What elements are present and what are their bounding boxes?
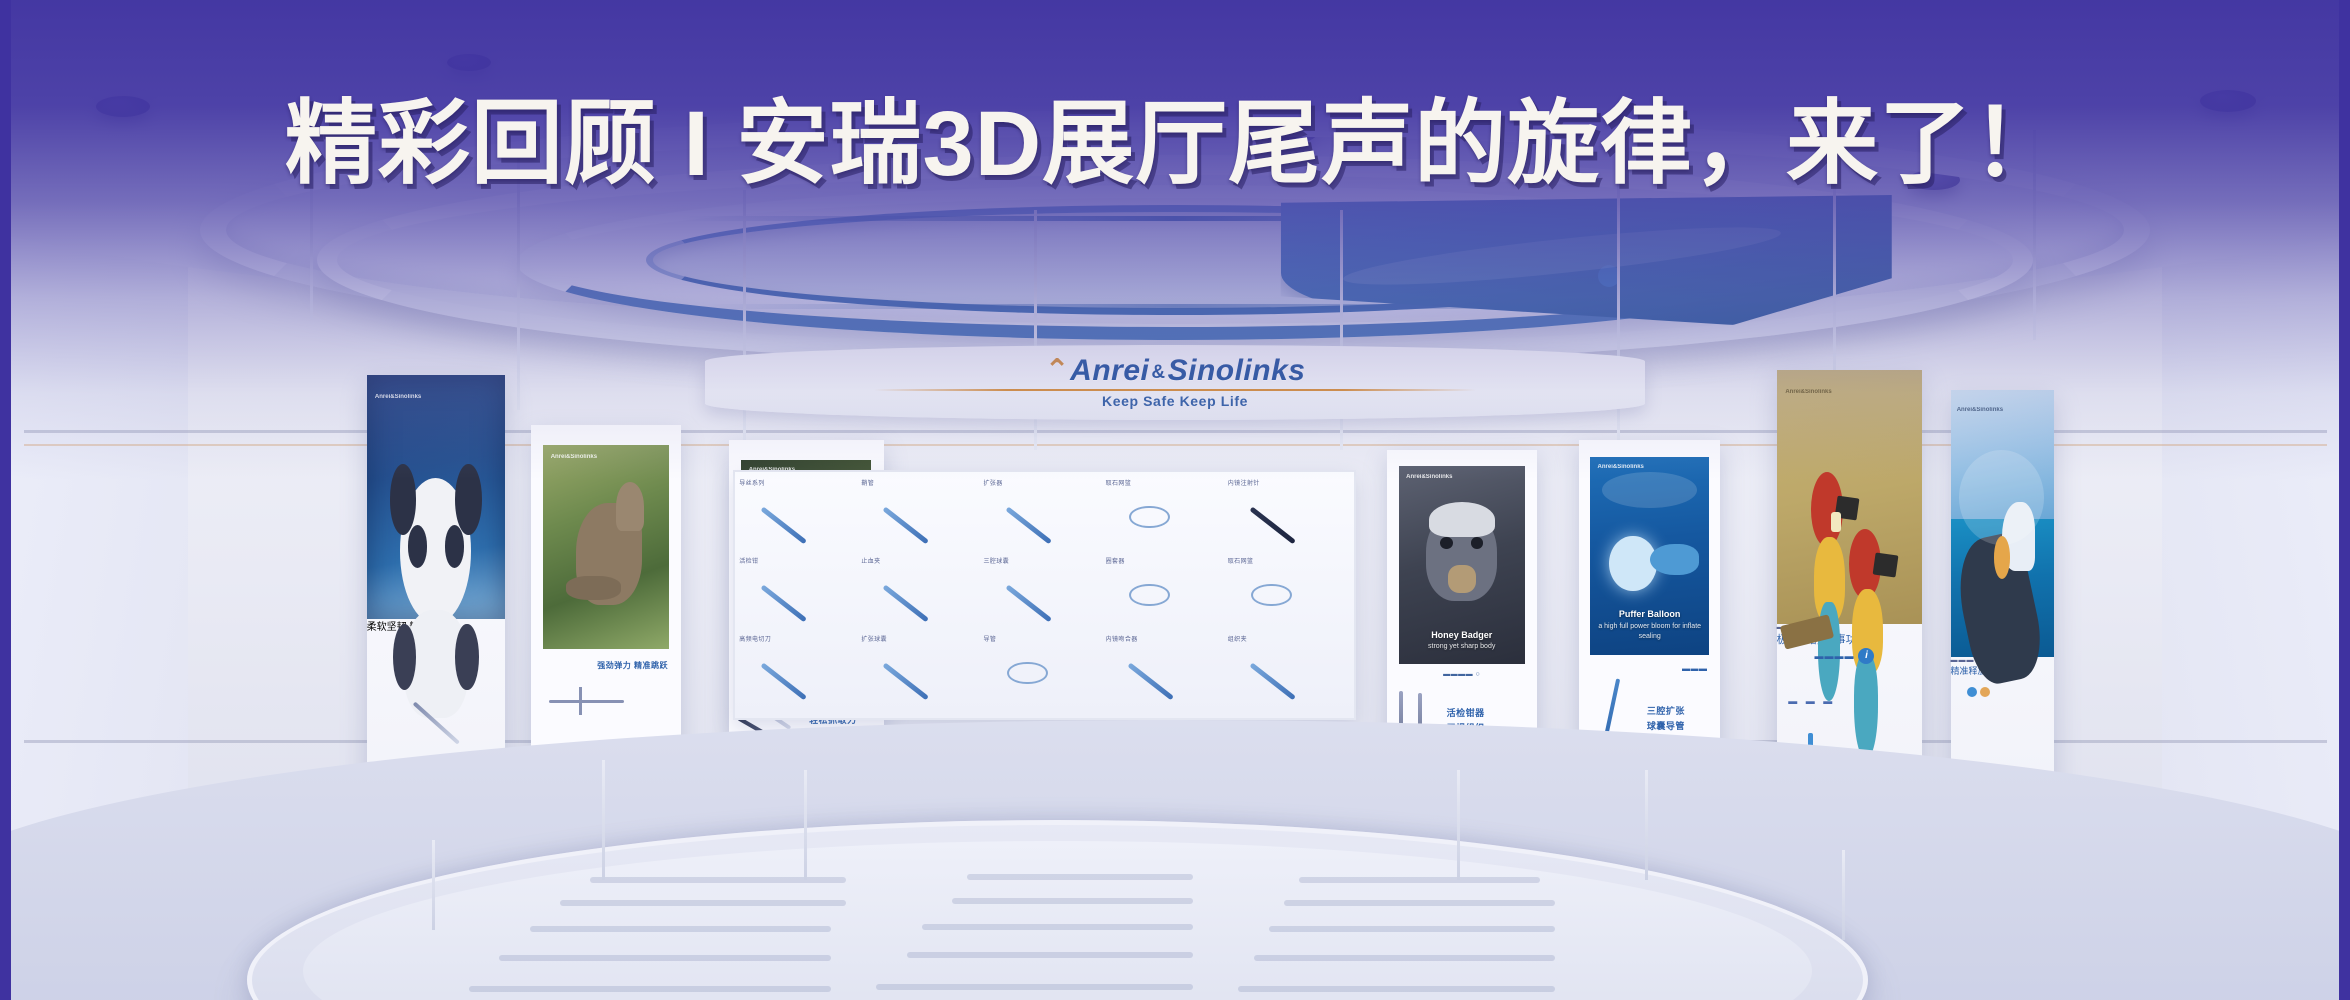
dais-text-pattern <box>303 841 1811 1000</box>
product-label: 高频电切刀 <box>739 634 861 643</box>
product-icon <box>1001 656 1077 698</box>
product-cell[interactable]: 圈套器 <box>1106 556 1228 634</box>
product-icon <box>756 656 832 698</box>
product-icon <box>1245 578 1321 620</box>
product-icon <box>1123 500 1199 542</box>
logo-divider <box>874 389 1476 391</box>
panel-support-post <box>432 840 435 930</box>
poster-panel-honey-badger[interactable]: Anrei&Sinolinks Honey Badger strong yet … <box>1387 450 1537 770</box>
bee-eater-poster-art: Anrei&Sinolinks 锐利取食 · 精准入喙 <box>1777 370 1923 624</box>
product-cell[interactable]: 取石网篮 <box>1106 478 1228 556</box>
dot-icon <box>1967 687 1977 697</box>
poster-brand-mark: Anrei&Sinolinks <box>1598 464 1644 470</box>
product-cell[interactable]: 内镜吻合器 <box>1106 634 1228 712</box>
brand-logo-left: Anrei <box>1070 354 1149 387</box>
panel-support-post <box>1842 850 1845 940</box>
circular-dais <box>247 820 1869 1000</box>
product-label: 圈套器 <box>1106 556 1228 565</box>
product-cell[interactable]: 鞘管 <box>861 478 983 556</box>
ceiling-rod <box>743 190 746 450</box>
product-label: 扩张器 <box>983 478 1105 487</box>
product-label: 内镜吻合器 <box>1106 634 1228 643</box>
panel-support-post <box>1457 770 1460 880</box>
product-label: 止血夹 <box>861 556 983 565</box>
panel-support-post <box>804 770 807 880</box>
product-icon <box>1001 578 1077 620</box>
ceiling-light <box>447 54 491 71</box>
product-label: 活检钳 <box>739 556 861 565</box>
brand-logo-text: ⌃Anrei&Sinolinks <box>1045 356 1306 386</box>
poster-caption: 强劲弹力 精准跳跃 <box>545 660 668 671</box>
column-meta: ▬ ▬ ▬ <box>1788 696 1835 706</box>
poster-caption: Honey Badger strong yet sharp body <box>1399 629 1525 653</box>
poster-brand-row: ▬▬▬▬ i <box>1814 648 1874 664</box>
product-cell[interactable]: 止血夹 <box>861 556 983 634</box>
pufferfish-poster-art: Anrei&Sinolinks Puffer Balloon a high fu… <box>1590 457 1708 655</box>
product-label: 导丝系列 <box>739 478 861 487</box>
product-cell[interactable]: 组织夹 <box>1228 634 1350 712</box>
product-icon <box>878 500 954 542</box>
product-display-board[interactable]: 导丝系列 鞘管 扩张器 取石网篮 内镜注射针 活检钳 止血夹 三腔球囊 圈套器 … <box>733 470 1356 720</box>
panel-support-post <box>1645 770 1648 880</box>
product-label: 组织夹 <box>1228 634 1350 643</box>
product-icon <box>756 578 832 620</box>
poster-brand-mark: Anrei&Sinolinks <box>551 454 597 460</box>
product-label: 鞘管 <box>861 478 983 487</box>
honey-badger-poster-art: Anrei&Sinolinks Honey Badger strong yet … <box>1399 466 1525 664</box>
product-label: 取石网篮 <box>1106 478 1228 487</box>
product-icon <box>1001 500 1077 542</box>
product-label: 扩张球囊 <box>861 634 983 643</box>
product-cell[interactable]: 内镜注射针 <box>1228 478 1350 556</box>
poster-panel-kangaroo[interactable]: Anrei&Sinolinks 强劲弹力 精准跳跃 ▬▬▬ ▬▬ <box>531 425 681 765</box>
poster-column-eagle[interactable]: Anrei&Sinolinks 翱翔天际 sharp & sure power … <box>1951 390 2054 820</box>
exhibition-banner: ⌃Anrei&Sinolinks Keep Safe Keep Life Anr… <box>0 0 2350 1000</box>
product-cell[interactable]: 扩张器 <box>983 478 1105 556</box>
product-icon <box>878 656 954 698</box>
product-icon <box>1245 656 1321 698</box>
poster-brand-mark: Anrei&Sinolinks <box>1785 389 1831 395</box>
product-icon <box>1245 500 1321 542</box>
poster-caption-cn: 三腔扩张 球囊导管 <box>1647 704 1708 735</box>
banner-headline: 精彩回顾 I 安瑞3D展厅尾声的旋律，来了！ <box>0 96 2350 193</box>
kangaroo-poster-art: Anrei&Sinolinks <box>543 445 669 649</box>
ceiling-rod <box>1617 180 1620 450</box>
product-label: 三腔球囊 <box>983 556 1105 565</box>
poster-brand-mark: Anrei&Sinolinks <box>1957 407 2003 413</box>
product-cell[interactable]: 导丝系列 <box>739 478 861 556</box>
product-icon <box>878 578 954 620</box>
brand-logo-amp: & <box>1151 362 1165 383</box>
poster-subcaption: ▬▬▬ <box>1592 664 1708 673</box>
poster-panel-pufferfish[interactable]: Anrei&Sinolinks Puffer Balloon a high fu… <box>1579 440 1720 770</box>
product-label: 导管 <box>983 634 1105 643</box>
product-icon <box>756 500 832 542</box>
brand-logo-band: ⌃Anrei&Sinolinks Keep Safe Keep Life <box>705 345 1645 420</box>
panda-poster-art: Anrei&Sinolinks 极致柔韧 · 步步为营 Ultimate fle… <box>367 375 506 619</box>
product-cell[interactable]: 导管 <box>983 634 1105 712</box>
poster-brand-mark: Anrei&Sinolinks <box>375 394 421 400</box>
product-cell[interactable]: 扩张球囊 <box>861 634 983 712</box>
product-cell[interactable]: 高频电切刀 <box>739 634 861 712</box>
product-icon <box>1123 578 1199 620</box>
logo-swash: ⌃ <box>1045 354 1071 387</box>
product-cell[interactable]: 三腔球囊 <box>983 556 1105 634</box>
poster-icon-row <box>1967 687 1990 697</box>
brand-tagline: Keep Safe Keep Life <box>1102 393 1248 409</box>
product-cell[interactable]: 取石网篮 <box>1228 556 1350 634</box>
poster-caption: Puffer Balloon a high full power bloom f… <box>1590 608 1708 643</box>
panel-support-post <box>602 760 605 880</box>
dais-surface <box>303 841 1811 1000</box>
brand-logo-right: Sinolinks <box>1168 354 1306 387</box>
product-label: 取石网篮 <box>1228 556 1350 565</box>
product-icon <box>1123 656 1199 698</box>
product-label: 内镜注射针 <box>1228 478 1350 487</box>
dot-icon <box>1980 687 1990 697</box>
poster-brand-mark: Anrei&Sinolinks <box>1406 474 1452 480</box>
info-badge-icon: i <box>1858 648 1874 664</box>
poster-subcaption: ▬▬▬▬ ○ <box>1400 671 1523 678</box>
product-cell[interactable]: 活检钳 <box>739 556 861 634</box>
